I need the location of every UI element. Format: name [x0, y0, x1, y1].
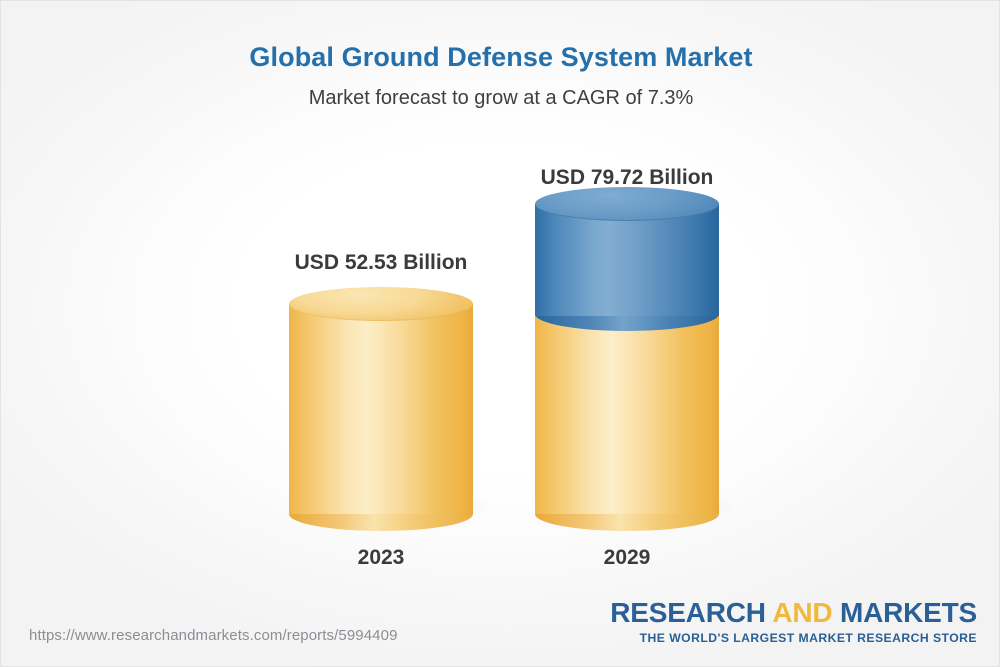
category-label-2029: 2029	[507, 546, 747, 570]
brand-name-and: AND	[772, 597, 832, 628]
cylinder-segment-blue	[535, 204, 719, 316]
brand-name: RESEARCH AND MARKETS	[610, 599, 977, 627]
cylinder-body	[535, 314, 719, 514]
category-label-2023: 2023	[261, 546, 501, 570]
brand-name-part1: RESEARCH	[610, 597, 772, 628]
brand-logo: RESEARCH AND MARKETS THE WORLD'S LARGEST…	[610, 599, 977, 644]
cylinder-segment-gold	[289, 304, 473, 514]
brand-tagline: THE WORLD'S LARGEST MARKET RESEARCH STOR…	[610, 632, 977, 644]
infographic-card: Global Ground Defense System Market Mark…	[0, 0, 1000, 667]
source-url[interactable]: https://www.researchandmarkets.com/repor…	[29, 627, 398, 644]
value-label-2023: USD 52.53 Billion	[261, 251, 501, 275]
cylinder-top-cap	[535, 187, 719, 221]
brand-name-part2: MARKETS	[832, 597, 977, 628]
cylinder-top-cap	[289, 287, 473, 321]
cylinder-body	[289, 304, 473, 514]
bar-chart: USD 52.53 Billion 2023 USD 79.72 Billion	[1, 1, 1000, 667]
cylinder-segment-gold	[535, 314, 719, 514]
